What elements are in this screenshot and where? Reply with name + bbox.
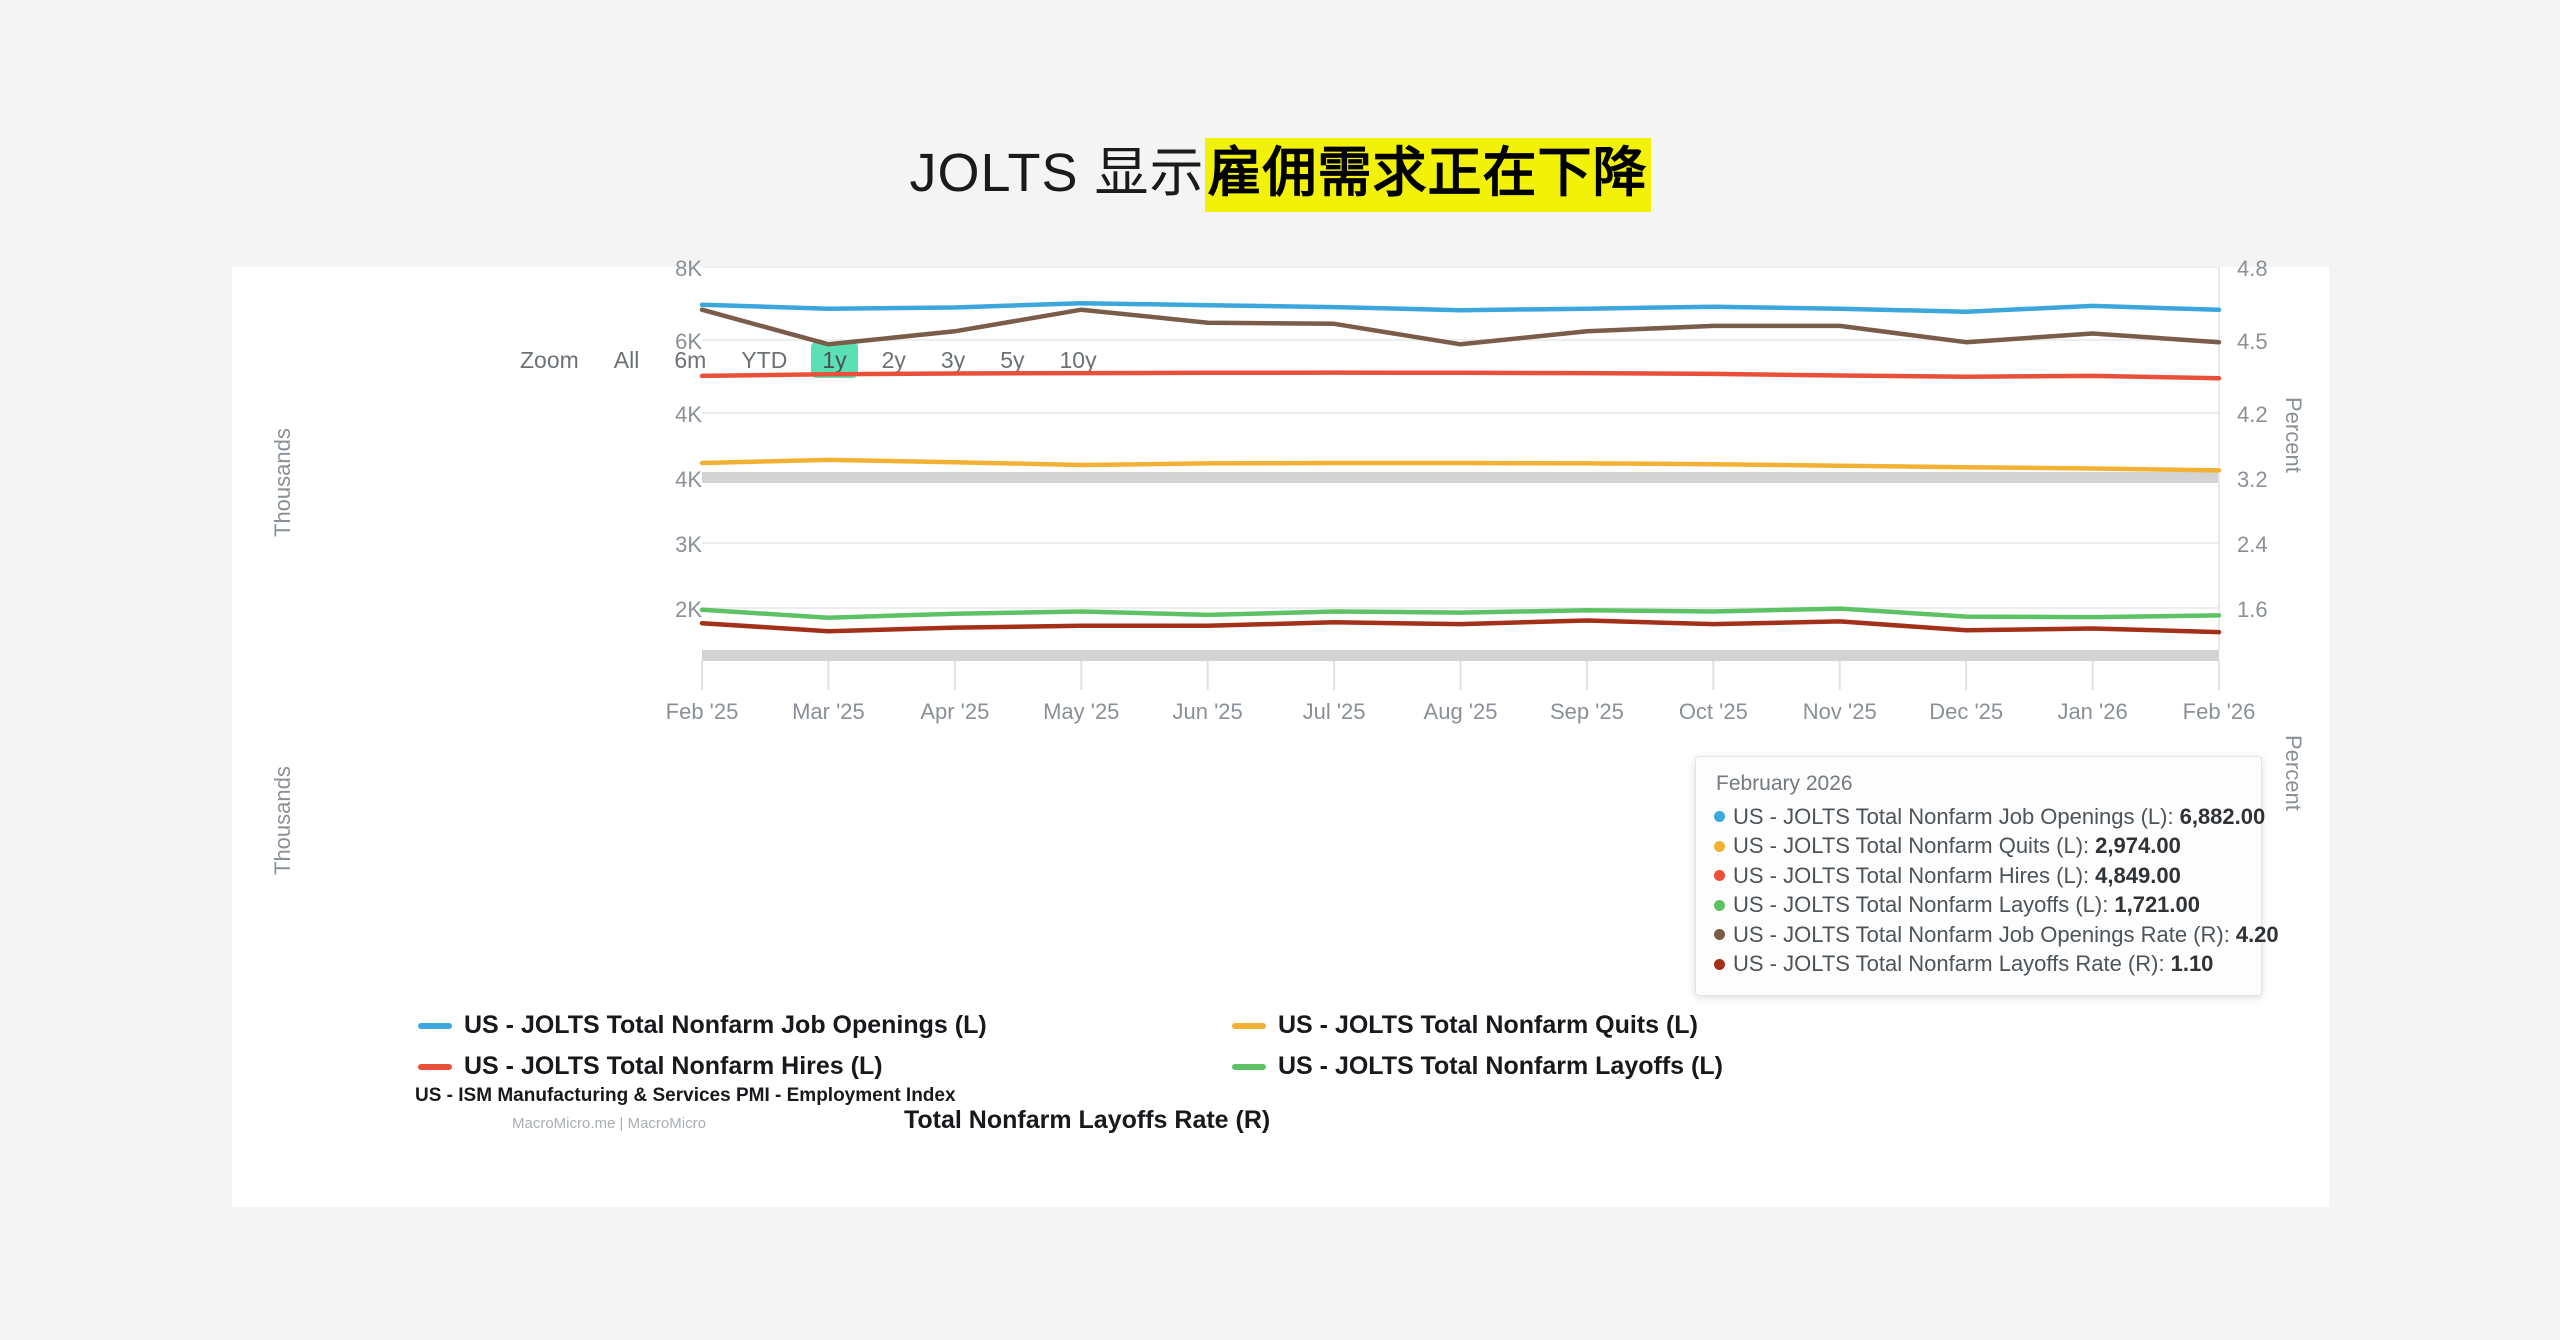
tooltip-series-dot-icon	[1714, 900, 1725, 911]
xtick-label: Jul '25	[1303, 699, 1366, 725]
legend-column-right: US - JOLTS Total Nonfarm Quits (L) US - …	[1232, 1011, 1723, 1093]
axis-title-left-bottom: Thousands	[270, 725, 296, 875]
legend-label-quits: US - JOLTS Total Nonfarm Quits (L)	[1278, 1011, 1698, 1040]
ytick-right-top-3: 3.2	[2237, 467, 2317, 493]
tooltip-row-value: 1,721.00	[2114, 890, 2200, 919]
tooltip-row-value: 4,849.00	[2095, 861, 2181, 890]
ytick-right-top-2: 4.2	[2237, 402, 2317, 428]
tooltip-row-label: US - JOLTS Total Nonfarm Layoffs (L):	[1733, 890, 2108, 919]
xtick-label: Feb '25	[666, 699, 739, 725]
ytick-left-bottom-0: 4K	[632, 467, 702, 493]
legend-item-quits[interactable]: US - JOLTS Total Nonfarm Quits (L)	[1232, 1011, 1723, 1040]
xtick-label: Feb '26	[2183, 699, 2256, 725]
ytick-left-top-2: 4K	[632, 402, 702, 428]
legend-swatch-layoffs	[1232, 1064, 1266, 1070]
tooltip-row-value: 4.20	[2236, 920, 2279, 949]
legend-label-hires: US - JOLTS Total Nonfarm Hires (L)	[464, 1052, 883, 1081]
xtick-label: Sep '25	[1550, 699, 1624, 725]
tooltip-row: US - JOLTS Total Nonfarm Quits (L):2,974…	[1714, 831, 2243, 860]
page-title-plain: JOLTS 显示	[909, 143, 1204, 203]
page-title-highlight: 雇佣需求正在下降	[1205, 138, 1651, 212]
axis-title-right-bottom: Percent	[2280, 735, 2306, 865]
xtick-label: May '25	[1043, 699, 1119, 725]
tooltip-series-dot-icon	[1714, 841, 1725, 852]
tooltip-row: US - JOLTS Total Nonfarm Job Openings (L…	[1714, 802, 2243, 831]
ytick-left-top-0: 8K	[632, 256, 702, 282]
legend-item-hires[interactable]: US - JOLTS Total Nonfarm Hires (L)	[418, 1052, 987, 1081]
legend-swatch-hires	[418, 1064, 452, 1070]
chart-tooltip: February 2026 US - JOLTS Total Nonfarm J…	[1695, 756, 2262, 996]
ytick-right-top-0: 4.8	[2237, 256, 2317, 282]
axis-title-left-top: Thousands	[270, 387, 296, 537]
xtick-label: Nov '25	[1803, 699, 1877, 725]
page-title: JOLTS 显示雇佣需求正在下降	[0, 128, 2560, 207]
tooltip-row: US - JOLTS Total Nonfarm Layoffs Rate (R…	[1714, 949, 2243, 978]
xtick-label: Jun '25	[1173, 699, 1243, 725]
legend-swatch-job-openings	[418, 1023, 452, 1029]
tooltip-series-dot-icon	[1714, 811, 1725, 822]
tooltip-row-label: US - JOLTS Total Nonfarm Job Openings (L…	[1733, 802, 2174, 831]
ytick-right-bottom-0: 2.4	[2237, 532, 2317, 558]
tooltip-series-dot-icon	[1714, 929, 1725, 940]
legend-extra-label: US - ISM Manufacturing & Services PMI - …	[415, 1085, 956, 1107]
tooltip-row-label: US - JOLTS Total Nonfarm Layoffs Rate (R…	[1733, 949, 2165, 978]
tooltip-row: US - JOLTS Total Nonfarm Job Openings Ra…	[1714, 920, 2243, 949]
legend-swatch-quits	[1232, 1023, 1266, 1029]
tooltip-row-value: 6,882.00	[2180, 802, 2266, 831]
legend-item-layoffs[interactable]: US - JOLTS Total Nonfarm Layoffs (L)	[1232, 1052, 1723, 1081]
xtick-label: Dec '25	[1929, 699, 2003, 725]
legend-label-layoffs-rate: Total Nonfarm Layoffs Rate (R)	[904, 1106, 1270, 1135]
tooltip-row: US - JOLTS Total Nonfarm Layoffs (L):1,7…	[1714, 890, 2243, 919]
xtick-label: Aug '25	[1424, 699, 1498, 725]
ytick-right-bottom-1: 1.6	[2237, 597, 2317, 623]
xtick-label: Oct '25	[1679, 699, 1748, 725]
ytick-left-bottom-2: 2K	[632, 597, 702, 623]
legend-label-layoffs: US - JOLTS Total Nonfarm Layoffs (L)	[1278, 1052, 1723, 1081]
ytick-right-top-1: 4.5	[2237, 329, 2317, 355]
tooltip-date: February 2026	[1714, 772, 2243, 796]
legend-item-job-openings[interactable]: US - JOLTS Total Nonfarm Job Openings (L…	[418, 1011, 987, 1040]
tooltip-row-value: 1.10	[2171, 949, 2214, 978]
attribution-text: MacroMicro.me | MacroMicro	[512, 1115, 706, 1132]
tooltip-row-label: US - JOLTS Total Nonfarm Quits (L):	[1733, 831, 2089, 860]
xtick-label: Jan '26	[2057, 699, 2127, 725]
tooltip-row: US - JOLTS Total Nonfarm Hires (L):4,849…	[1714, 861, 2243, 890]
legend-label-job-openings: US - JOLTS Total Nonfarm Job Openings (L…	[464, 1011, 987, 1040]
tooltip-rows: US - JOLTS Total Nonfarm Job Openings (L…	[1714, 802, 2243, 979]
xtick-label: Mar '25	[792, 699, 865, 725]
ytick-left-bottom-1: 3K	[632, 532, 702, 558]
legend-column-left: US - JOLTS Total Nonfarm Job Openings (L…	[418, 1011, 987, 1093]
chart-card: Zoom All 6m YTD 1y 2y 3y 5y 10y Thousand…	[232, 267, 2329, 1207]
xtick-label: Apr '25	[920, 699, 989, 725]
ytick-left-top-1: 6K	[632, 329, 702, 355]
tooltip-series-dot-icon	[1714, 870, 1725, 881]
tooltip-row-value: 2,974.00	[2095, 831, 2181, 860]
tooltip-series-dot-icon	[1714, 959, 1725, 970]
tooltip-row-label: US - JOLTS Total Nonfarm Hires (L):	[1733, 861, 2089, 890]
tooltip-row-label: US - JOLTS Total Nonfarm Job Openings Ra…	[1733, 920, 2230, 949]
